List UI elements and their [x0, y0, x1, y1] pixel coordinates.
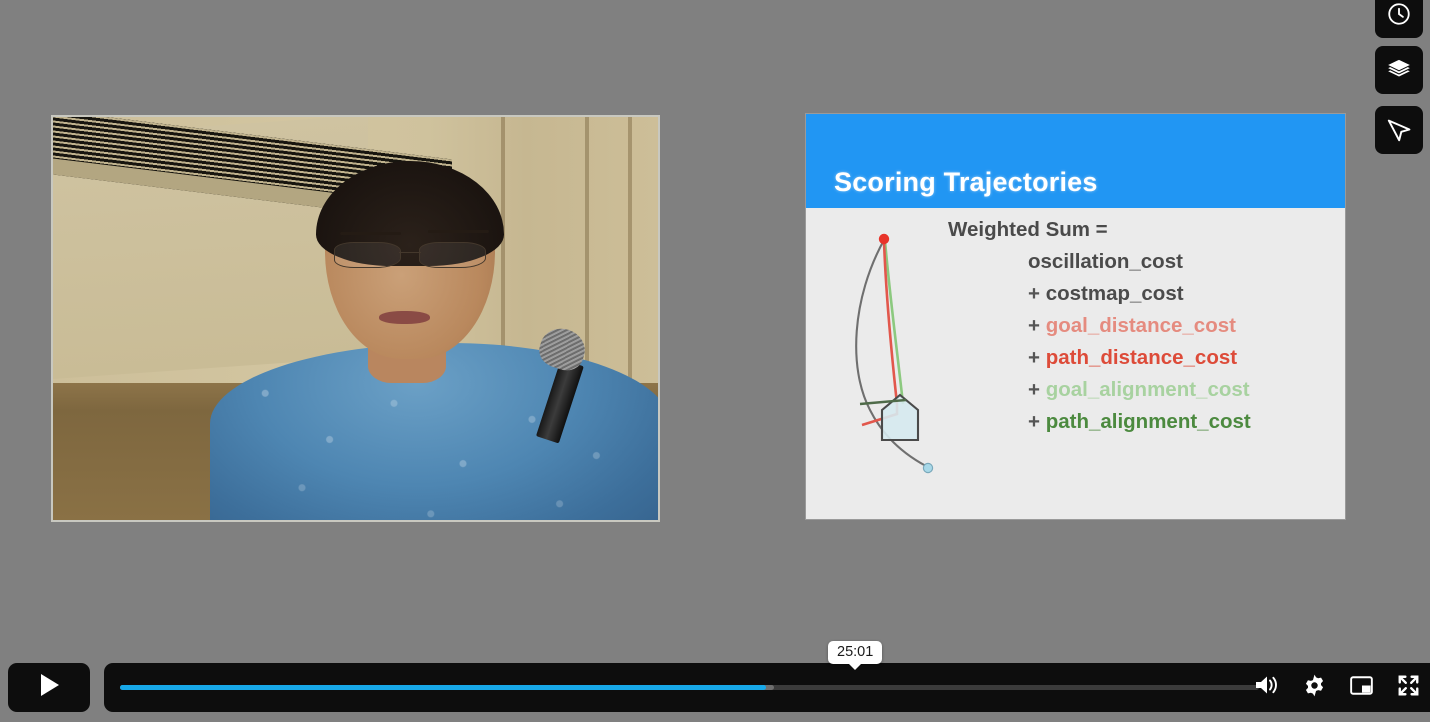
- equation-terms: oscillation_cost + costmap_cost + goal_d…: [1028, 246, 1251, 438]
- plus-sign: +: [1028, 378, 1040, 401]
- equation-heading: Weighted Sum =: [948, 214, 1251, 246]
- plus-sign: +: [1028, 346, 1040, 369]
- speaker-eyebrow-left: [340, 232, 401, 235]
- equation-term: path_alignment_cost: [1046, 410, 1251, 433]
- gear-icon: [1302, 673, 1327, 703]
- speaker-mouth: [379, 311, 430, 324]
- equation-term-row: + costmap_cost: [1028, 278, 1251, 310]
- equation-term-row: + path_alignment_cost: [1028, 406, 1251, 438]
- pip-icon: [1349, 674, 1374, 702]
- side-tool-clock[interactable]: [1375, 0, 1423, 38]
- equation-term: oscillation_cost: [1028, 250, 1183, 273]
- speaker-eyebrow-right: [428, 230, 489, 233]
- clock-icon: [1386, 1, 1412, 27]
- time-tooltip: 25:01: [828, 641, 882, 664]
- speaker-video-frame: [53, 117, 658, 520]
- equation-term: goal_distance_cost: [1046, 314, 1236, 337]
- plus-sign: +: [1028, 282, 1040, 305]
- speaker-glasses: [334, 242, 485, 268]
- equation-term: goal_alignment_cost: [1046, 378, 1250, 401]
- equation-term-row: + goal_distance_cost: [1028, 310, 1251, 342]
- weighted-sum-equation: Weighted Sum = oscillation_cost + costma…: [948, 214, 1251, 438]
- glasses-lens-right: [419, 242, 486, 268]
- slide-pane: Scoring Trajectories: [805, 113, 1346, 520]
- equation-term-row: + goal_alignment_cost: [1028, 374, 1251, 406]
- layers-icon: [1386, 57, 1412, 83]
- slide-body: Weighted Sum = oscillation_cost + costma…: [806, 208, 1345, 520]
- fullscreen-button[interactable]: [1394, 674, 1422, 702]
- side-tool-layers[interactable]: [1375, 46, 1423, 94]
- player-control-bar: 25:01: [0, 663, 1430, 712]
- equation-term: costmap_cost: [1046, 282, 1184, 305]
- player-right-controls: [1253, 663, 1422, 712]
- glasses-lens-left: [334, 242, 401, 268]
- settings-button[interactable]: [1300, 674, 1328, 702]
- equation-term: path_distance_cost: [1046, 346, 1237, 369]
- plus-sign: +: [1028, 410, 1040, 433]
- play-icon: [36, 671, 62, 704]
- glasses-bridge: [399, 252, 420, 254]
- speaker-video-pane: [51, 115, 660, 522]
- trajectory-diagram: [824, 228, 954, 498]
- slide-title: Scoring Trajectories: [834, 167, 1098, 198]
- equation-term-row: + path_distance_cost: [1028, 342, 1251, 374]
- video-player-stage: Scoring Trajectories: [0, 0, 1430, 722]
- fullscreen-icon: [1396, 673, 1421, 703]
- volume-button[interactable]: [1253, 674, 1281, 702]
- send-icon: [1386, 117, 1413, 144]
- equation-term-row: oscillation_cost: [1028, 246, 1251, 278]
- progress-played: [120, 685, 766, 690]
- side-tool-send[interactable]: [1375, 106, 1423, 154]
- progress-bar[interactable]: [120, 685, 1259, 690]
- progress-panel: 25:01: [104, 663, 1430, 712]
- plus-sign: +: [1028, 314, 1040, 337]
- volume-icon: [1254, 673, 1280, 702]
- slide-header: Scoring Trajectories: [806, 114, 1345, 208]
- miniplayer-button[interactable]: [1347, 674, 1375, 702]
- play-button[interactable]: [8, 663, 90, 712]
